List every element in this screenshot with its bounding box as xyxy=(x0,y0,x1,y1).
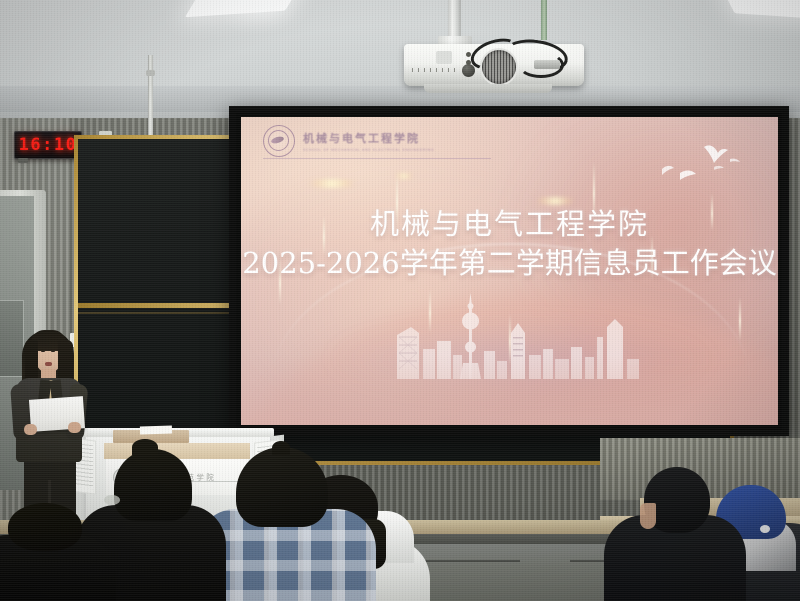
projection-screen: 机械与电气工程学院 SCHOOL OF MECHANICAL AND ELECT… xyxy=(241,117,778,425)
projector-vent-slots xyxy=(412,68,456,72)
slide-title-line-2: 2025-2026学年第二学期信息员工作会议 xyxy=(241,243,778,283)
slide-streak-9 xyxy=(739,297,741,341)
slide-logo: 机械与电气工程学院 SCHOOL OF MECHANICAL AND ELECT… xyxy=(263,125,434,157)
presenter-hand-left xyxy=(24,424,37,435)
slide-bottom-haze xyxy=(241,355,778,425)
green-conduit-rod xyxy=(541,0,547,40)
slide-logo-text-cn: 机械与电气工程学院 xyxy=(303,130,434,146)
ceiling-light-panel-small xyxy=(243,2,278,11)
clock-time-display: 16:10 xyxy=(19,137,78,154)
projector-lens-cover xyxy=(436,51,452,64)
side-door-panel xyxy=(0,300,24,377)
presenter-hand-right xyxy=(68,422,81,433)
clock-brand-badge xyxy=(18,158,28,163)
slide-logo-text-en: SCHOOL OF MECHANICAL AND ELECTRICAL ENGI… xyxy=(303,148,434,152)
slide-lens-flare-b xyxy=(527,197,583,205)
slide-lens-flare-a xyxy=(299,179,365,188)
presenter-mouth xyxy=(45,362,52,366)
projector-cable-clamp xyxy=(534,60,560,69)
slide-lens-flare-c xyxy=(391,173,417,179)
university-seal-icon xyxy=(263,125,295,157)
slide-title-block: 机械与电气工程学院 2025-2026学年第二学期信息员工作会议 xyxy=(241,205,778,283)
slide-logo-underline xyxy=(263,158,491,159)
projector-lower-housing xyxy=(424,84,552,93)
hanging-rod-joint xyxy=(146,70,155,76)
led-wall-clock: 16:10 xyxy=(14,131,82,159)
classroom-scene: 16:10 机械与电气工程学院 SCHOOL OF MECHA xyxy=(0,0,800,601)
birds-icon xyxy=(660,139,750,199)
slide-title-line-1: 机械与电气工程学院 xyxy=(241,205,778,243)
lectern-paper xyxy=(140,425,172,434)
